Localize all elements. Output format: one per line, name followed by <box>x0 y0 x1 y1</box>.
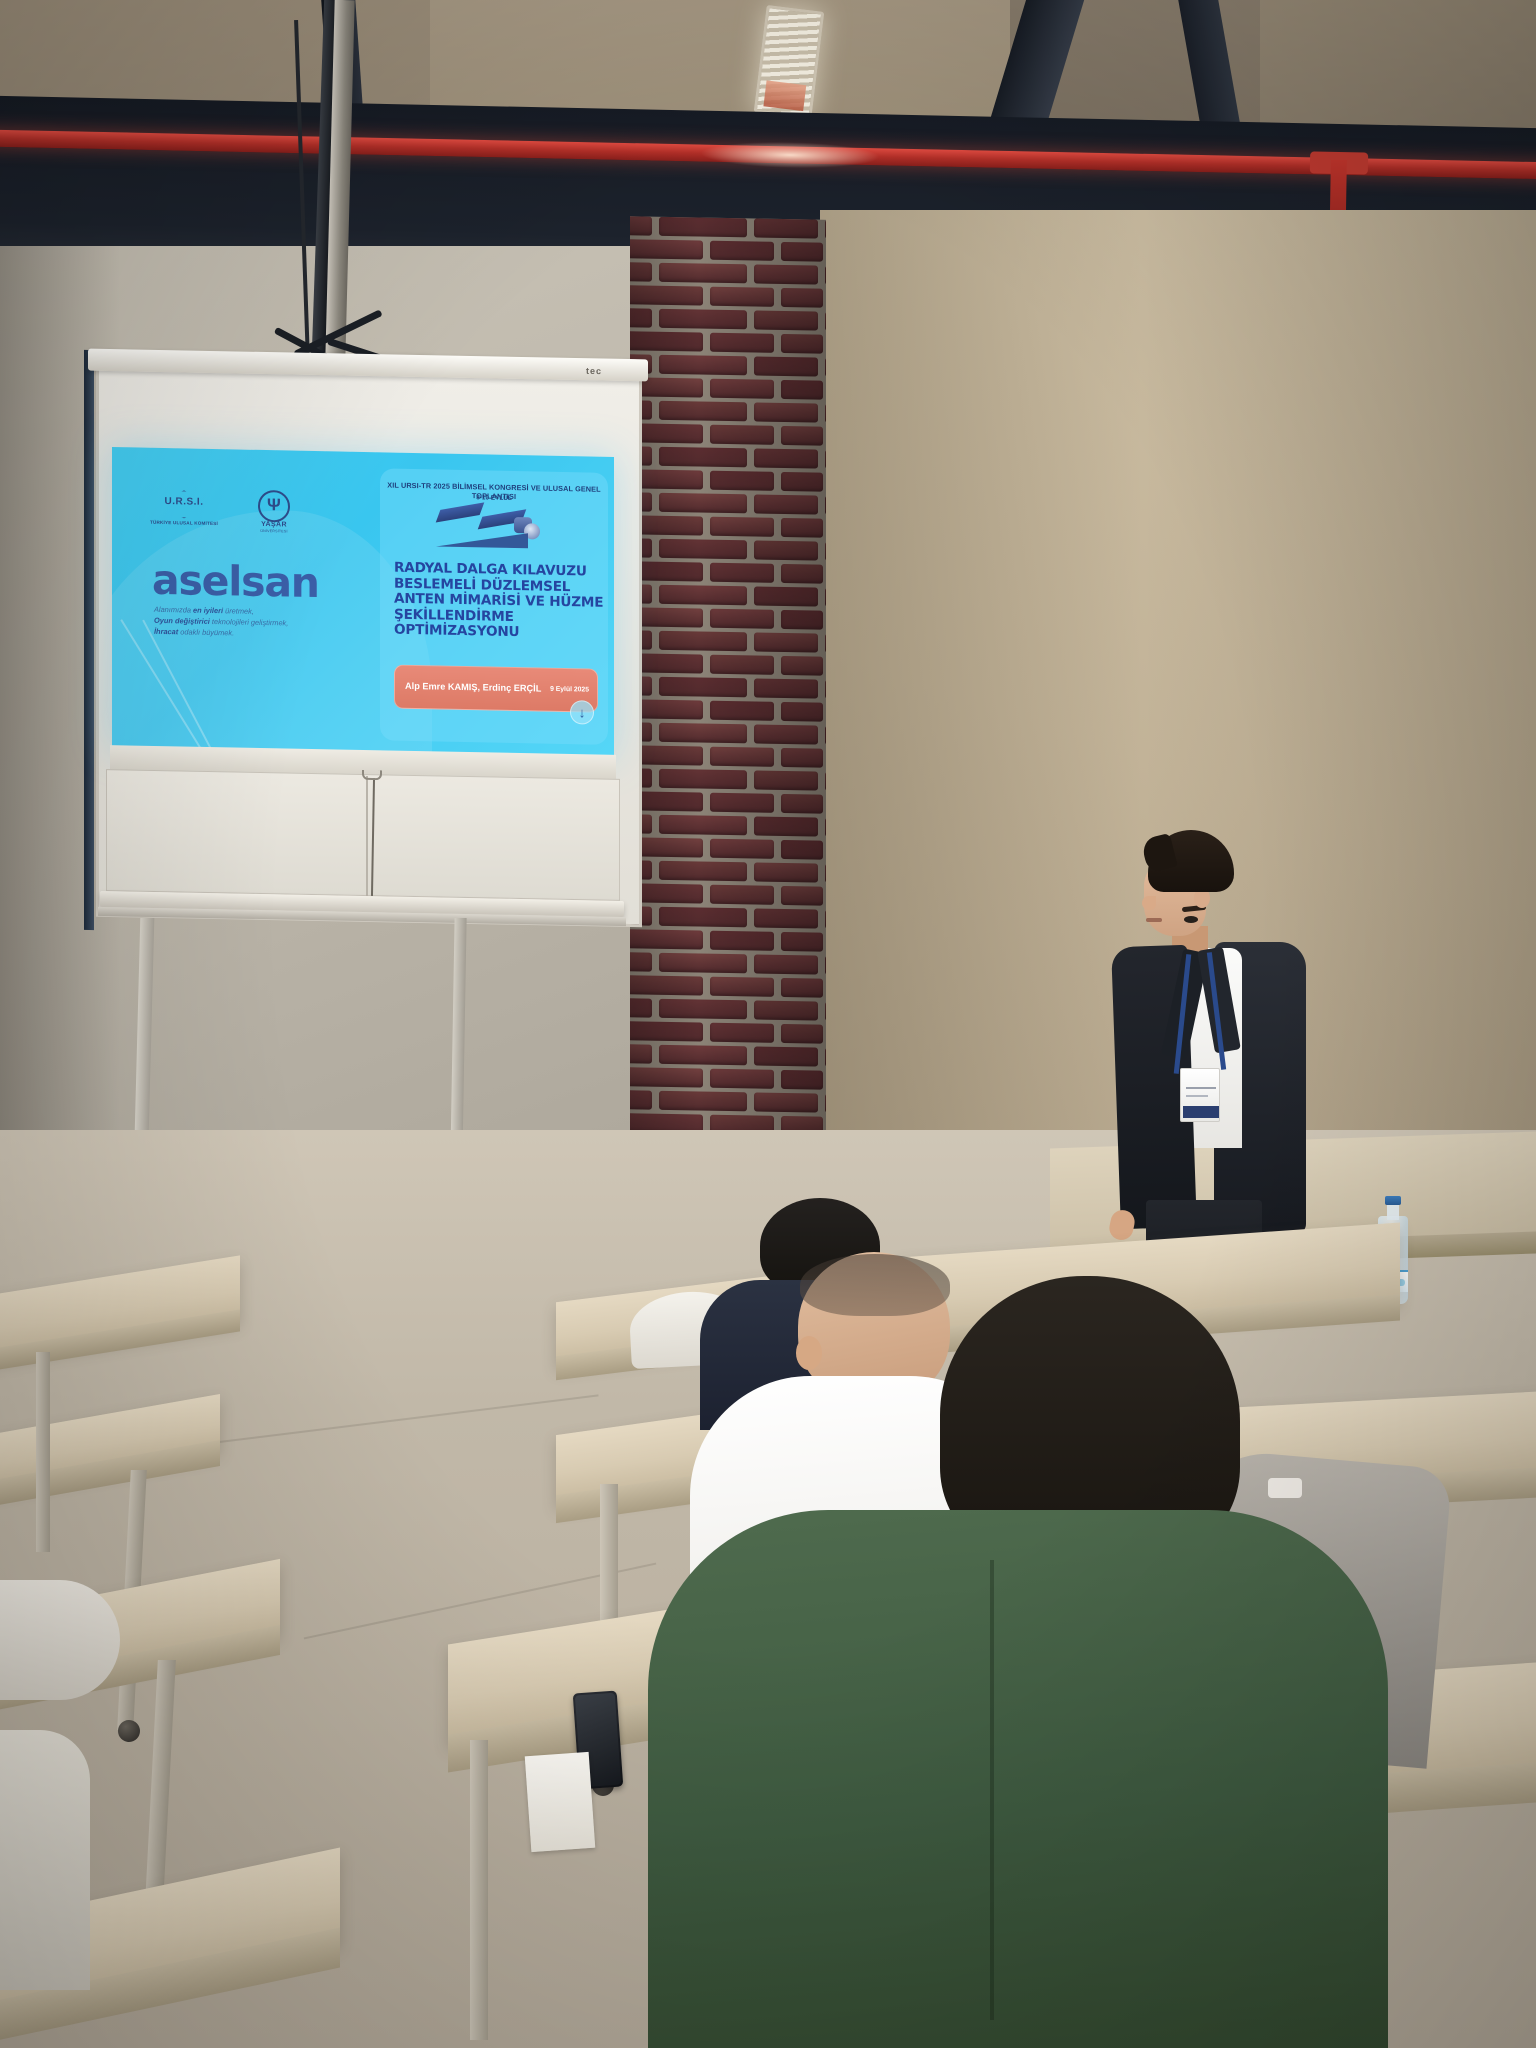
desk-leg <box>470 1740 488 2040</box>
author-bar: Alp Emre KAMIŞ, Erdinç ERÇİL 9 Eylül 202… <box>394 665 598 713</box>
brick-row <box>630 515 826 542</box>
brick <box>825 496 826 516</box>
brick <box>710 885 774 905</box>
lecture-hall-photo: tec U.R.S.I. TÜRKİYE ULUSAL KOMİTESİ Ψ Y… <box>0 0 1536 2048</box>
brick-row <box>630 584 826 611</box>
satellite-graphic-icon <box>436 503 556 549</box>
brick <box>659 309 747 330</box>
brick-row <box>630 1090 826 1117</box>
brick <box>710 839 774 859</box>
tagline-line-1: Alanımızda en iyileri üretmek, <box>154 605 254 616</box>
brick <box>659 769 747 790</box>
brick <box>659 723 747 744</box>
brick <box>659 1045 747 1066</box>
brick <box>630 285 703 306</box>
brick <box>825 726 826 746</box>
slide-title-card: XIL URSI-TR 2025 BİLİMSEL KONGRESİ VE UL… <box>380 468 608 745</box>
whiteboard <box>106 769 620 901</box>
brick-row <box>630 423 826 450</box>
presenter <box>1110 830 1340 1290</box>
brick <box>659 539 747 560</box>
screen-brand-label: tec <box>586 366 602 376</box>
desk-leg <box>36 1352 50 1552</box>
brick <box>659 355 747 376</box>
brick <box>710 655 774 675</box>
brick-row <box>630 745 826 772</box>
brick <box>710 609 774 629</box>
ursi-wordmark: U.R.S.I. <box>146 496 222 509</box>
brick <box>659 493 747 514</box>
audience-member-body <box>648 1510 1388 2048</box>
brick <box>754 1046 818 1066</box>
brick <box>630 331 703 352</box>
brick <box>781 242 823 262</box>
brick <box>710 379 774 399</box>
brick <box>630 1090 652 1110</box>
brick <box>825 1002 826 1022</box>
brick <box>781 426 823 446</box>
brick <box>781 886 823 906</box>
brick <box>659 631 747 652</box>
brick <box>710 287 774 307</box>
caster-wheel <box>118 1720 140 1742</box>
brick <box>710 563 774 583</box>
brick <box>781 334 823 354</box>
brick <box>710 931 774 951</box>
author-names: Alp Emre KAMIŞ, Erdinç ERÇİL <box>405 681 555 694</box>
brick <box>630 998 652 1018</box>
brick <box>781 656 823 676</box>
brick <box>825 358 826 378</box>
brick-row <box>630 331 826 358</box>
brick <box>781 1024 823 1044</box>
brick <box>710 333 774 353</box>
brick <box>825 864 826 884</box>
brick <box>825 1094 826 1114</box>
brick-row <box>630 929 826 956</box>
brick <box>825 818 826 838</box>
brick <box>710 701 774 721</box>
brick <box>781 794 823 814</box>
brick <box>825 956 826 976</box>
brick <box>825 634 826 654</box>
brick <box>754 862 818 882</box>
conference-badge <box>1180 1068 1220 1122</box>
brick-row <box>630 883 826 910</box>
brick <box>754 724 818 744</box>
brick <box>630 929 703 950</box>
brick <box>781 380 823 400</box>
brick-row <box>630 998 826 1025</box>
slide-logos: U.R.S.I. TÜRKİYE ULUSAL KOMİTESİ Ψ YAŞAR… <box>146 488 296 535</box>
nose <box>1142 896 1156 910</box>
brick-row <box>630 538 826 565</box>
brick <box>659 677 747 698</box>
brick <box>754 402 818 422</box>
brick <box>710 1069 774 1089</box>
brick <box>754 494 818 514</box>
brick <box>825 542 826 562</box>
brick <box>825 312 826 332</box>
ursi-subtitle: TÜRKİYE ULUSAL KOMİTESİ <box>140 520 228 527</box>
brick-row <box>630 768 826 795</box>
brick <box>659 447 747 468</box>
brick-row <box>630 469 826 496</box>
audience-member-hair <box>800 1254 950 1316</box>
brick <box>781 978 823 998</box>
brick <box>781 610 823 630</box>
brick-row <box>630 262 826 289</box>
brick <box>781 748 823 768</box>
shirt-logo <box>1268 1478 1302 1498</box>
brick <box>710 425 774 445</box>
brick-row <box>630 377 826 404</box>
down-arrow-icon: ↓ <box>570 700 594 724</box>
brick <box>710 1023 774 1043</box>
brick <box>754 632 818 652</box>
ursi-logo: U.R.S.I. TÜRKİYE ULUSAL KOMİTESİ <box>146 490 222 532</box>
brick <box>754 678 818 698</box>
brick <box>710 241 774 261</box>
brick <box>825 1048 826 1068</box>
brick <box>825 220 826 240</box>
brick <box>659 907 747 928</box>
mouth <box>1146 918 1162 922</box>
brick <box>825 404 826 424</box>
brick-row <box>630 239 826 266</box>
brick <box>825 588 826 608</box>
brick <box>781 1070 823 1090</box>
brick <box>754 218 818 238</box>
brick <box>659 1091 747 1112</box>
brick <box>630 239 703 260</box>
pipe-highlight <box>700 140 881 170</box>
brick-row <box>630 1044 826 1071</box>
brick-row <box>630 791 826 818</box>
brick <box>781 472 823 492</box>
yasar-wordmark: YAŞAR <box>248 521 300 529</box>
yasar-logo: Ψ YAŞAR ÜNİVERSİTESİ <box>252 490 296 535</box>
aselsan-tagline: Alanımızda en iyileri üretmek, Oyun deği… <box>154 604 354 641</box>
brick-row <box>630 400 826 427</box>
shirt-seam <box>990 1560 994 2020</box>
screen-hook-icon <box>362 770 382 780</box>
brick <box>754 1092 818 1112</box>
whiteboard-divider <box>366 776 368 896</box>
brick-row <box>630 653 826 680</box>
brick-row <box>630 906 826 933</box>
brick <box>659 861 747 882</box>
brick <box>659 953 747 974</box>
brick <box>710 977 774 997</box>
brick <box>754 908 818 928</box>
brick <box>659 815 747 836</box>
brick <box>710 793 774 813</box>
brick-row <box>630 952 826 979</box>
brick-row <box>630 975 826 1002</box>
brick <box>754 770 818 790</box>
audience-member-ear <box>796 1336 822 1370</box>
board-left-edge <box>84 350 94 930</box>
brick-row <box>630 308 826 335</box>
brick <box>754 310 818 330</box>
brick <box>754 540 818 560</box>
brick <box>754 954 818 974</box>
bottle-cap <box>1385 1196 1401 1205</box>
brick-row <box>630 492 826 519</box>
brick <box>630 975 703 996</box>
brick <box>781 518 823 538</box>
brick <box>710 747 774 767</box>
brick <box>754 448 818 468</box>
brick-row <box>630 837 826 864</box>
brick-row <box>630 676 826 703</box>
brick <box>710 517 774 537</box>
brick <box>781 564 823 584</box>
brick <box>781 288 823 308</box>
brick <box>825 450 826 470</box>
brick-row <box>630 561 826 588</box>
brick-row <box>630 814 826 841</box>
audience-member-arm <box>0 1580 120 1700</box>
yasar-subtitle: ÜNİVERSİTESİ <box>248 529 300 534</box>
brick-column <box>630 216 826 1279</box>
projection-screen: U.R.S.I. TÜRKİYE ULUSAL KOMİTESİ Ψ YAŞAR… <box>112 447 614 757</box>
tagline-line-2: Oyun değiştirici teknolojileri geliştirm… <box>154 616 288 628</box>
brick <box>659 401 747 422</box>
brick-row <box>630 354 826 381</box>
brick <box>754 356 818 376</box>
brick <box>630 262 652 282</box>
brick <box>659 585 747 606</box>
yasar-glyph-icon: Ψ <box>267 496 281 514</box>
brick <box>659 999 747 1020</box>
brick-row <box>630 216 826 243</box>
brick <box>754 1000 818 1020</box>
aselsan-wordmark: aselsan <box>152 556 319 607</box>
brick <box>781 840 823 860</box>
brick-row <box>630 860 826 887</box>
brick-row <box>630 630 826 657</box>
brick-row <box>630 607 826 634</box>
brick <box>630 1021 703 1042</box>
presentation-date: 9 Eylül 2025 <box>550 686 589 694</box>
brick <box>710 471 774 491</box>
brick <box>659 217 747 238</box>
brick <box>825 266 826 286</box>
brick <box>825 910 826 930</box>
brick <box>781 932 823 952</box>
brick <box>825 680 826 700</box>
audience-member-arm <box>0 1730 90 1990</box>
brick-row <box>630 285 826 312</box>
brick <box>754 586 818 606</box>
brick <box>781 702 823 722</box>
brick <box>825 772 826 792</box>
brick-row <box>630 1021 826 1048</box>
brick <box>630 1067 703 1088</box>
brick <box>630 952 652 972</box>
brick-row <box>630 722 826 749</box>
tagline-line-3: İhracat odaklı büyümek. <box>154 627 234 638</box>
brick <box>630 216 652 235</box>
paper-sheet <box>525 1752 596 1852</box>
brick <box>630 308 652 328</box>
brick-row <box>630 1067 826 1094</box>
brick-row <box>630 699 826 726</box>
brick <box>659 263 747 284</box>
brick <box>754 816 818 836</box>
page-title: RADYAL DALGA KILAVUZU BESLEMELİ DÜZLEMSE… <box>394 561 608 643</box>
brick <box>630 1044 652 1064</box>
brick <box>754 264 818 284</box>
brick-row <box>630 446 826 473</box>
